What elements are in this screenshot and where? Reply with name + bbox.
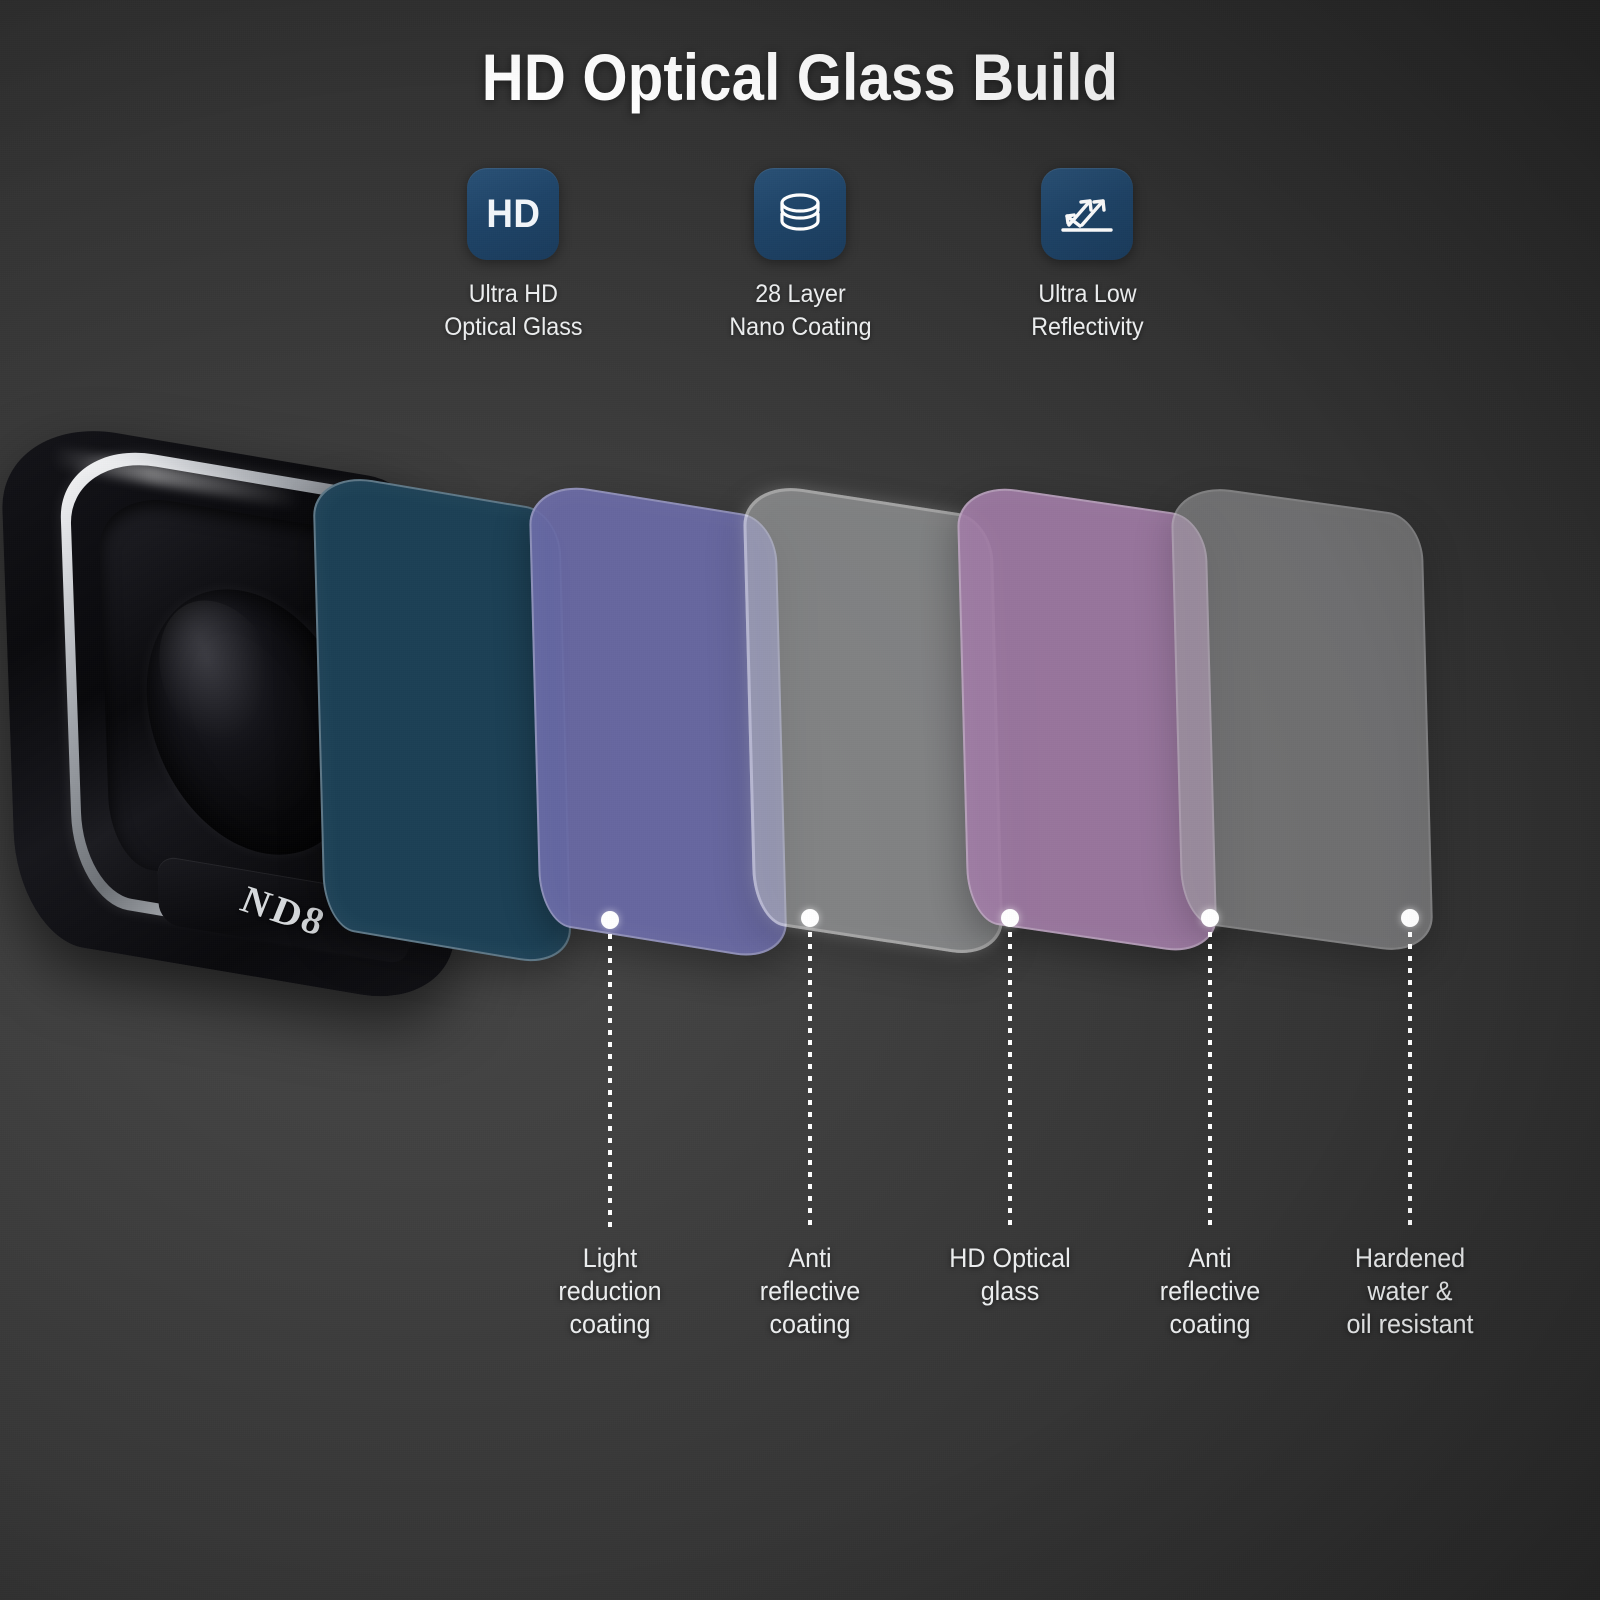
feature-label-2: 28 Layer Nano Coating [729, 278, 871, 344]
plate-edge-highlight [1170, 482, 1433, 957]
callout-dot [601, 911, 619, 929]
callout-dot [1001, 909, 1019, 927]
stacked-layers-icon [754, 168, 846, 260]
product-name-label: ND8 [237, 874, 328, 946]
callout-dot [1401, 909, 1419, 927]
glass-plate-hardened-water-oil-resistant [1170, 482, 1433, 957]
feature-ultra-hd-optical-glass: HD Ultra HD Optical Glass [408, 168, 618, 344]
callout-dot [1201, 909, 1219, 927]
callout-dotted-line [808, 932, 812, 1232]
callout-dotted-line [1408, 932, 1412, 1232]
feature-28-layer-nano-coating: 28 Layer Nano Coating [695, 168, 905, 344]
feature-label-1: Ultra HD Optical Glass [444, 278, 582, 344]
callout-dotted-line [1208, 932, 1212, 1232]
infographic-canvas: ND8 Light reduction coatingAnti reflecti… [0, 0, 1600, 1600]
callout-label: Hardened water & oil resistant [1289, 1242, 1531, 1341]
feature-label-3: Ultra Low Reflectivity [1031, 278, 1143, 344]
hd-badge-text: HD [486, 192, 540, 237]
callout-dot [801, 909, 819, 927]
callout-dotted-line [608, 934, 612, 1232]
stacked-layers-glyph [773, 187, 827, 241]
low-reflectivity-icon [1041, 168, 1133, 260]
reflectivity-glyph [1058, 189, 1116, 239]
feature-ultra-low-reflectivity: Ultra Low Reflectivity [982, 168, 1192, 344]
page-title: HD Optical Glass Build [96, 38, 1504, 116]
feature-badge-row: HD Ultra HD Optical Glass 28 Layer Nano … [408, 168, 1192, 344]
hd-text-icon: HD [467, 168, 559, 260]
callout-dotted-line [1008, 932, 1012, 1232]
